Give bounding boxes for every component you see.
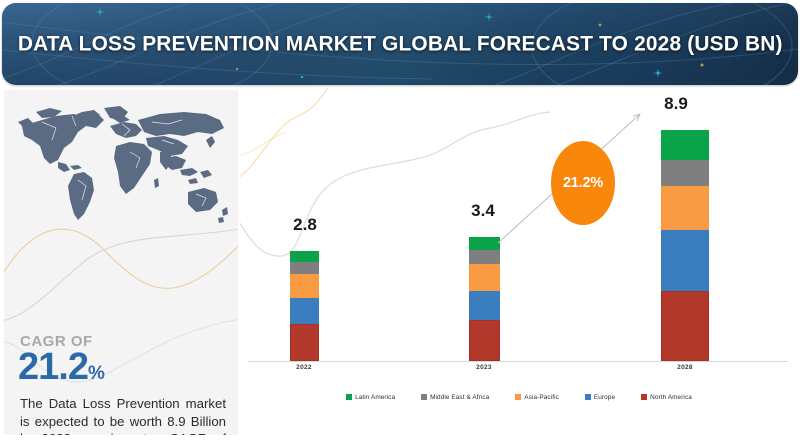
chart-legend: Latin America Middle East & Africa Asia-… <box>240 388 798 406</box>
legend-swatch-europe <box>585 394 591 400</box>
legend-label-latin-america: Latin America <box>355 394 395 401</box>
cagr-callout-badge: 21.2% <box>551 141 615 225</box>
page-title: DATA LOSS PREVENTION MARKET GLOBAL FOREC… <box>2 32 798 57</box>
summary-description: The Data Loss Prevention market is expec… <box>20 395 226 435</box>
legend-label-middle-east-africa: Middle East & Africa <box>430 394 489 401</box>
legend-label-europe: Europe <box>594 394 615 401</box>
header-banner: DATA LOSS PREVENTION MARKET GLOBAL FOREC… <box>2 3 798 85</box>
infographic-page: DATA LOSS PREVENTION MARKET GLOBAL FOREC… <box>0 0 800 440</box>
legend-item-north-america[interactable]: North America <box>641 394 692 401</box>
legend-swatch-north-america <box>641 394 647 400</box>
cagr-value: 21.2% <box>18 348 105 386</box>
legend-swatch-middle-east-africa <box>421 394 427 400</box>
growth-arrow-icon <box>240 88 798 388</box>
legend-swatch-asia-pacific <box>515 394 521 400</box>
legend-item-middle-east-africa[interactable]: Middle East & Africa <box>421 394 489 401</box>
legend-item-latin-america[interactable]: Latin America <box>346 394 395 401</box>
legend-item-asia-pacific[interactable]: Asia-Pacific <box>515 394 559 401</box>
legend-label-north-america: North America <box>650 394 692 401</box>
legend-item-europe[interactable]: Europe <box>585 394 615 401</box>
left-summary-panel: CAGR OF 21.2% The Data Loss Prevention m… <box>4 90 238 435</box>
cagr-unit: % <box>88 363 105 384</box>
legend-swatch-latin-america <box>346 394 352 400</box>
stacked-bar-chart: 21.2% 2.8 2022 3.4 2023 8.9 <box>240 88 798 436</box>
legend-label-asia-pacific: Asia-Pacific <box>524 394 559 401</box>
